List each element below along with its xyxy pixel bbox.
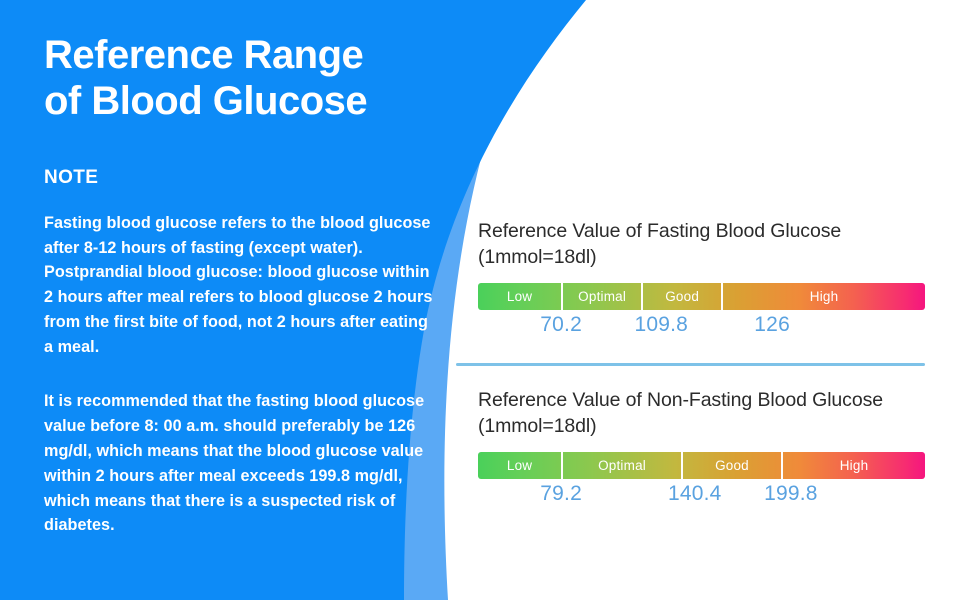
non-fasting-scale-ticks: 79.2 140.4 199.8	[478, 479, 925, 511]
fasting-band-good-label: Good	[665, 289, 699, 304]
fasting-tick-1: 70.2	[540, 313, 582, 337]
non-fasting-glucose-section: Reference Value of Non-Fasting Blood Glu…	[478, 387, 930, 511]
non-fasting-band-low: Low	[478, 452, 561, 479]
non-fasting-band-optimal-label: Optimal	[598, 458, 646, 473]
infographic-page: Reference Range of Blood Glucose NOTE Fa…	[0, 0, 970, 600]
fasting-scale-bar: Low Optimal Good High	[478, 283, 925, 310]
fasting-scale: Low Optimal Good High 70.2 109.8 126	[478, 283, 925, 342]
section-divider	[456, 363, 925, 366]
page-title-line-1: Reference Range	[44, 33, 363, 77]
fasting-tick-2: 109.8	[634, 313, 688, 337]
non-fasting-band-good-label: Good	[715, 458, 749, 473]
non-fasting-tick-3: 199.8	[764, 482, 818, 506]
non-fasting-band-optimal: Optimal	[561, 452, 681, 479]
non-fasting-tick-1: 79.2	[540, 482, 582, 506]
non-fasting-band-low-label: Low	[507, 458, 532, 473]
fasting-band-low: Low	[478, 283, 561, 310]
fasting-band-good: Good	[641, 283, 721, 310]
fasting-scale-ticks: 70.2 109.8 126	[478, 310, 925, 342]
fasting-band-high: High	[721, 283, 925, 310]
fasting-section-heading: Reference Value of Fasting Blood Glucose…	[478, 218, 930, 271]
note-paragraph-1: Fasting blood glucose refers to the bloo…	[44, 189, 434, 360]
fasting-band-high-label: High	[810, 289, 839, 304]
page-title-line-2: of Blood Glucose	[44, 79, 367, 123]
non-fasting-section-heading: Reference Value of Non-Fasting Blood Glu…	[478, 387, 930, 440]
non-fasting-band-high: High	[781, 452, 925, 479]
non-fasting-band-good: Good	[681, 452, 781, 479]
note-label: NOTE	[44, 125, 434, 189]
fasting-band-optimal: Optimal	[561, 283, 641, 310]
non-fasting-tick-2: 140.4	[668, 482, 722, 506]
fasting-tick-3: 126	[754, 313, 790, 337]
non-fasting-band-high-label: High	[840, 458, 869, 473]
note-paragraph-2: It is recommended that the fasting blood…	[44, 359, 434, 538]
fasting-band-low-label: Low	[507, 289, 532, 304]
non-fasting-scale-bar: Low Optimal Good High	[478, 452, 925, 479]
left-panel: Reference Range of Blood Glucose NOTE Fa…	[44, 0, 434, 538]
non-fasting-scale: Low Optimal Good High 79.2 140.4 199.8	[478, 452, 925, 511]
page-title: Reference Range of Blood Glucose	[44, 0, 434, 125]
fasting-band-optimal-label: Optimal	[578, 289, 626, 304]
fasting-glucose-section: Reference Value of Fasting Blood Glucose…	[478, 218, 930, 342]
